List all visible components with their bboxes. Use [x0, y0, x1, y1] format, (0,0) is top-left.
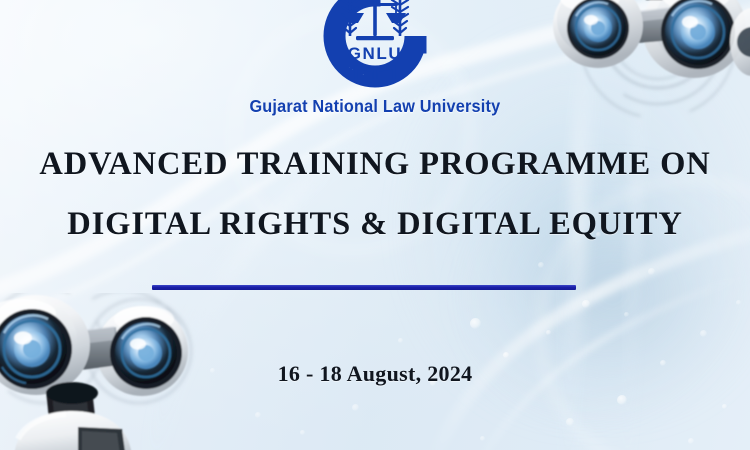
programme-title-line-2: DIGITAL RIGHTS & DIGITAL EQUITY	[0, 208, 750, 241]
gnlu-emblem-icon: GNLU	[312, 0, 438, 94]
event-dates: 16 - 18 August, 2024	[0, 361, 750, 387]
poster-canvas: GNLU Gujarat National Law University ADV…	[0, 0, 750, 450]
university-wordmark: Gujarat National Law University	[250, 96, 501, 117]
title-divider-rule	[152, 285, 576, 290]
programme-title-line-1: ADVANCED TRAINING PROGRAMME ON	[0, 148, 750, 181]
gnlu-logo-block: GNLU Gujarat National Law University	[0, 0, 750, 117]
programme-title: ADVANCED TRAINING PROGRAMME ON DIGITAL R…	[0, 148, 750, 240]
svg-text:GNLU: GNLU	[348, 44, 403, 63]
